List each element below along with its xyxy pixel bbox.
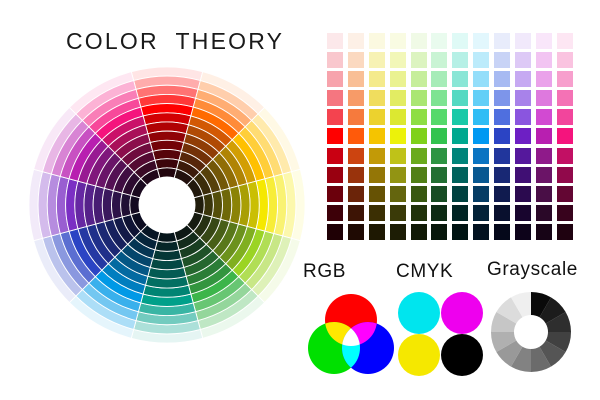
swatch-yellow-shade-4[interactable] bbox=[390, 205, 406, 221]
swatch-blue-shade-2[interactable] bbox=[494, 167, 510, 183]
swatch-pink-pure-hue[interactable] bbox=[557, 128, 573, 144]
swatch-amber-tint-1[interactable] bbox=[369, 109, 385, 125]
rgb-label: RGB bbox=[303, 262, 399, 281]
swatch-pink-shade-4[interactable] bbox=[557, 205, 573, 221]
swatch-green-shade-1[interactable] bbox=[431, 148, 447, 164]
rgb-section: RGB bbox=[303, 262, 399, 378]
swatch-yellow-green-tint-5[interactable] bbox=[411, 33, 427, 49]
swatch-green-shade-4[interactable] bbox=[431, 205, 447, 221]
swatch-violet-tint-4[interactable] bbox=[515, 52, 531, 68]
swatch-green-shade-2[interactable] bbox=[431, 167, 447, 183]
swatch-amber-shade-1[interactable] bbox=[369, 148, 385, 164]
cmyk-figure bbox=[396, 290, 484, 378]
cmyk-dot-magenta bbox=[441, 292, 483, 334]
swatch-teal-shade-3[interactable] bbox=[452, 186, 468, 202]
swatch-blue-tint-1[interactable] bbox=[494, 109, 510, 125]
swatch-row bbox=[327, 128, 575, 147]
swatch-row bbox=[327, 224, 575, 243]
swatch-blue-tint-4[interactable] bbox=[494, 52, 510, 68]
swatch-amber-tint-2[interactable] bbox=[369, 90, 385, 106]
swatch-pink-shade-1[interactable] bbox=[557, 148, 573, 164]
swatch-red-shade-3[interactable] bbox=[327, 186, 343, 202]
swatch-blue-shade-4[interactable] bbox=[494, 205, 510, 221]
swatch-orange-tint-5[interactable] bbox=[348, 33, 364, 49]
swatch-row bbox=[327, 205, 575, 224]
swatch-violet-shade-3[interactable] bbox=[515, 186, 531, 202]
swatch-blue-shade-5[interactable] bbox=[494, 224, 510, 240]
swatch-red-shade-2[interactable] bbox=[327, 167, 343, 183]
swatch-yellow-tint-5[interactable] bbox=[390, 33, 406, 49]
swatch-violet-shade-1[interactable] bbox=[515, 148, 531, 164]
swatch-teal-shade-1[interactable] bbox=[452, 148, 468, 164]
swatch-azure-tint-1[interactable] bbox=[473, 109, 489, 125]
swatch-azure-shade-1[interactable] bbox=[473, 148, 489, 164]
swatch-magenta-shade-1[interactable] bbox=[536, 148, 552, 164]
swatch-red-shade-4[interactable] bbox=[327, 205, 343, 221]
swatch-orange-shade-5[interactable] bbox=[348, 224, 364, 240]
swatch-amber-shade-5[interactable] bbox=[369, 224, 385, 240]
swatch-green-tint-2[interactable] bbox=[431, 90, 447, 106]
swatch-azure-pure-hue[interactable] bbox=[473, 128, 489, 144]
swatch-green-tint-4[interactable] bbox=[431, 52, 447, 68]
swatch-row bbox=[327, 167, 575, 186]
swatch-green-tint-3[interactable] bbox=[431, 71, 447, 87]
grayscale-figure bbox=[487, 288, 578, 376]
swatch-pink-tint-5[interactable] bbox=[557, 33, 573, 49]
swatch-amber-tint-5[interactable] bbox=[369, 33, 385, 49]
swatch-red-tint-1[interactable] bbox=[327, 109, 343, 125]
swatch-yellow-tint-3[interactable] bbox=[390, 71, 406, 87]
swatch-blue-tint-3[interactable] bbox=[494, 71, 510, 87]
swatch-yellow-green-pure-hue[interactable] bbox=[411, 128, 427, 144]
swatch-orange-shade-2[interactable] bbox=[348, 167, 364, 183]
swatch-yellow-pure-hue[interactable] bbox=[390, 128, 406, 144]
swatch-red-tint-5[interactable] bbox=[327, 33, 343, 49]
swatch-magenta-shade-3[interactable] bbox=[536, 186, 552, 202]
swatch-magenta-tint-4[interactable] bbox=[536, 52, 552, 68]
swatch-teal-shade-5[interactable] bbox=[452, 224, 468, 240]
swatch-pink-tint-3[interactable] bbox=[557, 71, 573, 87]
swatch-magenta-tint-5[interactable] bbox=[536, 33, 552, 49]
swatch-orange-shade-1[interactable] bbox=[348, 148, 364, 164]
swatch-azure-shade-2[interactable] bbox=[473, 167, 489, 183]
swatch-amber-shade-2[interactable] bbox=[369, 167, 385, 183]
swatch-violet-shade-4[interactable] bbox=[515, 205, 531, 221]
swatch-yellow-shade-3[interactable] bbox=[390, 186, 406, 202]
swatch-blue-tint-2[interactable] bbox=[494, 90, 510, 106]
swatch-green-shade-5[interactable] bbox=[431, 224, 447, 240]
color-theory-poster: COLOR THEORY RGB bbox=[0, 0, 600, 400]
swatch-green-pure-hue[interactable] bbox=[431, 128, 447, 144]
swatch-yellow-green-shade-4[interactable] bbox=[411, 205, 427, 221]
swatch-teal-tint-5[interactable] bbox=[452, 33, 468, 49]
swatch-red-tint-3[interactable] bbox=[327, 71, 343, 87]
grayscale-section: Grayscale bbox=[487, 260, 578, 376]
swatch-magenta-tint-3[interactable] bbox=[536, 71, 552, 87]
swatch-amber-pure-hue[interactable] bbox=[369, 128, 385, 144]
swatch-row bbox=[327, 148, 575, 167]
swatch-red-shade-5[interactable] bbox=[327, 224, 343, 240]
swatch-yellow-tint-2[interactable] bbox=[390, 90, 406, 106]
swatch-azure-shade-3[interactable] bbox=[473, 186, 489, 202]
swatch-azure-shade-4[interactable] bbox=[473, 205, 489, 221]
swatch-row bbox=[327, 186, 575, 205]
swatch-pink-tint-2[interactable] bbox=[557, 90, 573, 106]
swatch-grid bbox=[327, 33, 575, 243]
swatch-orange-tint-1[interactable] bbox=[348, 109, 364, 125]
wheel-segment-yellow-11 bbox=[194, 195, 204, 214]
swatch-violet-tint-3[interactable] bbox=[515, 71, 531, 87]
swatch-row bbox=[327, 109, 575, 128]
swatch-yellow-green-tint-3[interactable] bbox=[411, 71, 427, 87]
swatch-amber-shade-4[interactable] bbox=[369, 205, 385, 221]
swatch-orange-shade-4[interactable] bbox=[348, 205, 364, 221]
swatch-violet-tint-5[interactable] bbox=[515, 33, 531, 49]
swatch-magenta-tint-2[interactable] bbox=[536, 90, 552, 106]
swatch-row bbox=[327, 52, 575, 71]
swatch-yellow-green-tint-2[interactable] bbox=[411, 90, 427, 106]
cmyk-dots-svg bbox=[396, 290, 484, 378]
swatch-row bbox=[327, 90, 575, 109]
color-wheel bbox=[28, 66, 306, 344]
swatch-teal-shade-2[interactable] bbox=[452, 167, 468, 183]
cmyk-dot-yellow bbox=[398, 334, 440, 376]
swatch-green-tint-5[interactable] bbox=[431, 33, 447, 49]
cmyk-label: CMYK bbox=[396, 262, 484, 281]
swatch-blue-pure-hue[interactable] bbox=[494, 128, 510, 144]
swatch-magenta-pure-hue[interactable] bbox=[536, 128, 552, 144]
swatch-yellow-green-tint-4[interactable] bbox=[411, 52, 427, 68]
swatch-blue-tint-5[interactable] bbox=[494, 33, 510, 49]
swatch-violet-shade-2[interactable] bbox=[515, 167, 531, 183]
wheel-segment-violet-11 bbox=[130, 195, 140, 214]
swatch-amber-tint-3[interactable] bbox=[369, 71, 385, 87]
swatch-orange-pure-hue[interactable] bbox=[348, 128, 364, 144]
swatch-yellow-green-tint-1[interactable] bbox=[411, 109, 427, 125]
swatch-yellow-shade-2[interactable] bbox=[390, 167, 406, 183]
swatch-yellow-tint-4[interactable] bbox=[390, 52, 406, 68]
swatch-blue-shade-3[interactable] bbox=[494, 186, 510, 202]
swatch-red-tint-2[interactable] bbox=[327, 90, 343, 106]
swatch-yellow-tint-1[interactable] bbox=[390, 109, 406, 125]
swatch-teal-pure-hue[interactable] bbox=[452, 128, 468, 144]
swatch-orange-tint-3[interactable] bbox=[348, 71, 364, 87]
swatch-yellow-green-shade-1[interactable] bbox=[411, 148, 427, 164]
swatch-green-shade-3[interactable] bbox=[431, 186, 447, 202]
swatch-orange-tint-4[interactable] bbox=[348, 52, 364, 68]
rgb-venn-svg bbox=[303, 290, 399, 378]
swatch-magenta-shade-2[interactable] bbox=[536, 167, 552, 183]
swatch-amber-tint-4[interactable] bbox=[369, 52, 385, 68]
swatch-yellow-green-shade-5[interactable] bbox=[411, 224, 427, 240]
swatch-azure-tint-2[interactable] bbox=[473, 90, 489, 106]
swatch-violet-shade-5[interactable] bbox=[515, 224, 531, 240]
swatch-teal-tint-2[interactable] bbox=[452, 90, 468, 106]
swatch-pink-shade-2[interactable] bbox=[557, 167, 573, 183]
color-wheel-svg bbox=[28, 66, 306, 344]
swatch-yellow-green-shade-3[interactable] bbox=[411, 186, 427, 202]
swatch-pink-tint-4[interactable] bbox=[557, 52, 573, 68]
swatch-orange-shade-3[interactable] bbox=[348, 186, 364, 202]
grayscale-label: Grayscale bbox=[487, 260, 578, 279]
grayscale-ring-svg bbox=[487, 288, 575, 376]
swatch-magenta-tint-1[interactable] bbox=[536, 109, 552, 125]
swatch-row bbox=[327, 71, 575, 90]
swatch-teal-tint-1[interactable] bbox=[452, 109, 468, 125]
swatch-azure-shade-5[interactable] bbox=[473, 224, 489, 240]
swatch-magenta-shade-4[interactable] bbox=[536, 205, 552, 221]
swatch-azure-tint-4[interactable] bbox=[473, 52, 489, 68]
swatch-pink-tint-1[interactable] bbox=[557, 109, 573, 125]
swatch-row bbox=[327, 33, 575, 52]
page-title: COLOR THEORY bbox=[66, 28, 296, 55]
swatch-green-tint-1[interactable] bbox=[431, 109, 447, 125]
wheel-center-hole bbox=[139, 177, 195, 233]
swatch-azure-tint-3[interactable] bbox=[473, 71, 489, 87]
swatch-violet-pure-hue[interactable] bbox=[515, 128, 531, 144]
swatch-pink-shade-5[interactable] bbox=[557, 224, 573, 240]
swatch-violet-tint-1[interactable] bbox=[515, 109, 531, 125]
swatch-yellow-green-shade-2[interactable] bbox=[411, 167, 427, 183]
swatch-red-pure-hue[interactable] bbox=[327, 128, 343, 144]
rgb-figure bbox=[303, 290, 399, 378]
wheel-segment-teal-11 bbox=[157, 232, 176, 242]
swatch-red-tint-4[interactable] bbox=[327, 52, 343, 68]
swatch-teal-tint-4[interactable] bbox=[452, 52, 468, 68]
cmyk-dot-black bbox=[441, 334, 483, 376]
swatch-red-shade-1[interactable] bbox=[327, 148, 343, 164]
swatch-teal-shade-4[interactable] bbox=[452, 205, 468, 221]
swatch-amber-shade-3[interactable] bbox=[369, 186, 385, 202]
swatch-violet-tint-2[interactable] bbox=[515, 90, 531, 106]
swatch-teal-tint-3[interactable] bbox=[452, 71, 468, 87]
cmyk-section: CMYK bbox=[396, 262, 484, 378]
swatch-pink-shade-3[interactable] bbox=[557, 186, 573, 202]
swatch-yellow-shade-5[interactable] bbox=[390, 224, 406, 240]
cmyk-dot-cyan bbox=[398, 292, 440, 334]
swatch-blue-shade-1[interactable] bbox=[494, 148, 510, 164]
swatch-orange-tint-2[interactable] bbox=[348, 90, 364, 106]
swatch-azure-tint-5[interactable] bbox=[473, 33, 489, 49]
wheel-segment-red-11 bbox=[157, 168, 176, 178]
swatch-magenta-shade-5[interactable] bbox=[536, 224, 552, 240]
swatch-yellow-shade-1[interactable] bbox=[390, 148, 406, 164]
